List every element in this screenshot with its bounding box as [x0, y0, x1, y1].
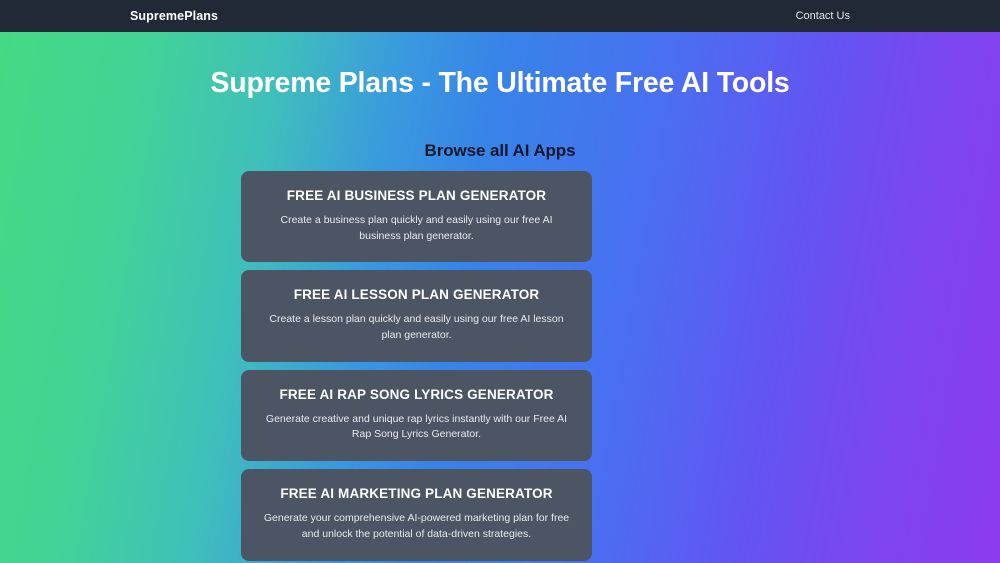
card-description: Create a lesson plan quickly and easily … — [259, 312, 574, 344]
app-card-rap-song-lyrics[interactable]: FREE AI RAP SONG LYRICS GENERATOR Genera… — [241, 370, 592, 461]
app-card-lesson-plan[interactable]: FREE AI LESSON PLAN GENERATOR Create a l… — [241, 270, 592, 361]
card-title: FREE AI MARKETING PLAN GENERATOR — [259, 486, 574, 503]
app-card-business-plan[interactable]: FREE AI BUSINESS PLAN GENERATOR Create a… — [241, 171, 592, 262]
top-navbar: SupremePlans Contact Us — [0, 0, 1000, 32]
card-title: FREE AI RAP SONG LYRICS GENERATOR — [259, 387, 574, 404]
card-title: FREE AI BUSINESS PLAN GENERATOR — [259, 188, 574, 205]
nav-link-contact-us[interactable]: Contact Us — [796, 10, 850, 22]
app-card-marketing-plan[interactable]: FREE AI MARKETING PLAN GENERATOR Generat… — [241, 469, 592, 560]
nav-links-group: Contact Us — [0, 10, 1000, 22]
card-description: Generate your comprehensive AI-powered m… — [259, 511, 574, 543]
card-description: Generate creative and unique rap lyrics … — [259, 412, 574, 444]
section-heading-browse-apps: Browse all AI Apps — [0, 141, 1000, 161]
ai-app-card-list: FREE AI BUSINESS PLAN GENERATOR Create a… — [241, 171, 592, 563]
card-description: Create a business plan quickly and easil… — [259, 213, 574, 245]
page-root: SupremePlans Contact Us Supreme Plans - … — [0, 0, 1000, 563]
hero-section: Supreme Plans - The Ultimate Free AI Too… — [0, 32, 1000, 563]
page-title: Supreme Plans - The Ultimate Free AI Too… — [0, 66, 1000, 100]
card-title: FREE AI LESSON PLAN GENERATOR — [259, 287, 574, 304]
